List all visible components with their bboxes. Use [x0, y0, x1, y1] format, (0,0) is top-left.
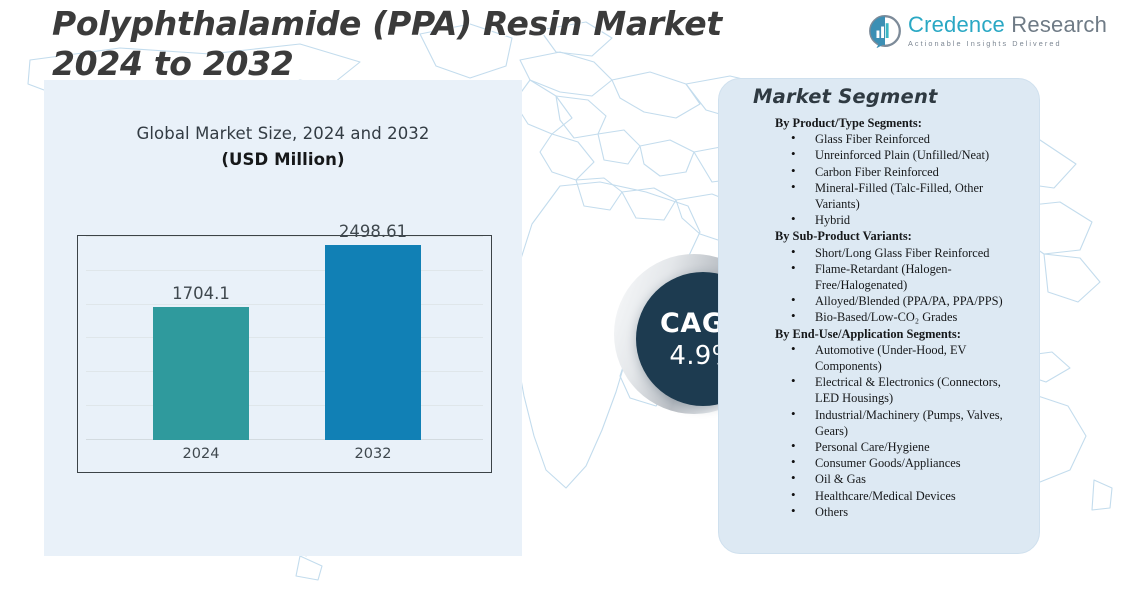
- bar-chart-plot-area: 1704.120242498.612032: [77, 235, 492, 473]
- page-title: Polyphthalamide (PPA) Resin Market 2024 …: [52, 4, 752, 84]
- segment-list-item: Automotive (Under-Hood, EV Components): [777, 342, 1027, 374]
- brand-logo: Credence Research Actionable Insights De…: [868, 10, 1068, 56]
- segment-list-item: Mineral-Filled (Talc-Filled, Other Varia…: [777, 180, 1027, 212]
- segment-list-item: Hybrid: [777, 212, 1027, 228]
- logo-name-rest: Research: [1005, 12, 1107, 37]
- segment-group-heading: By Product/Type Segments:: [775, 115, 1027, 131]
- market-segment-panel: Market Segment By Product/Type Segments:…: [718, 78, 1040, 554]
- segment-list-item: Healthcare/Medical Devices: [777, 488, 1027, 504]
- chart-subtitle: (USD Million): [44, 150, 522, 169]
- segment-list-item: Industrial/Machinery (Pumps, Valves, Gea…: [777, 407, 1027, 439]
- infographic-root: Polyphthalamide (PPA) Resin Market 2024 …: [0, 0, 1135, 590]
- bar-value-label: 1704.1: [172, 284, 230, 303]
- gridline: [86, 405, 483, 406]
- logo-tagline: Actionable Insights Delivered: [908, 39, 1107, 48]
- logo-text: Credence Research Actionable Insights De…: [908, 12, 1107, 48]
- chart-gridlines: [78, 236, 491, 472]
- gridline: [86, 270, 483, 271]
- segment-group-list: Automotive (Under-Hood, EV Components)El…: [777, 342, 1027, 520]
- bar-category-label: 2032: [355, 446, 392, 462]
- segment-list-item: Alloyed/Blended (PPA/PA, PPA/PPS): [777, 293, 1027, 309]
- segment-list-item: Electrical & Electronics (Connectors, LE…: [777, 374, 1027, 406]
- gridline: [86, 371, 483, 372]
- segment-list-item: Oil & Gas: [777, 471, 1027, 487]
- segment-list-item: Consumer Goods/Appliances: [777, 455, 1027, 471]
- market-segment-title: Market Segment: [753, 85, 938, 108]
- segment-list-item: Personal Care/Hygiene: [777, 439, 1027, 455]
- segment-group-heading: By Sub-Product Variants:: [775, 228, 1027, 244]
- bar-rect: [153, 307, 249, 440]
- chart-baseline: [86, 439, 483, 440]
- segment-group-heading: By End-Use/Application Segments:: [775, 326, 1027, 342]
- segment-list-item: Short/Long Glass Fiber Reinforced: [777, 245, 1027, 261]
- segment-group-list: Short/Long Glass Fiber ReinforcedFlame-R…: [777, 245, 1027, 326]
- market-segment-content: By Product/Type Segments:Glass Fiber Rei…: [777, 115, 1027, 520]
- bar-chart-bubble-icon: [868, 14, 902, 48]
- bar-2032: 2498.612032: [325, 245, 421, 440]
- segment-list-item: Others: [777, 504, 1027, 520]
- logo-name-accent: Credence: [908, 12, 1005, 37]
- gridline: [86, 304, 483, 305]
- segment-group-list: Glass Fiber ReinforcedUnreinforced Plain…: [777, 131, 1027, 228]
- segment-list-item: Carbon Fiber Reinforced: [777, 164, 1027, 180]
- logo-company-name: Credence Research: [908, 12, 1107, 38]
- segment-list-item: Flame-Retardant (Halogen-Free/Halogenate…: [777, 261, 1027, 293]
- market-size-chart-panel: Global Market Size, 2024 and 2032 (USD M…: [44, 80, 522, 556]
- chart-title: Global Market Size, 2024 and 2032: [44, 124, 522, 143]
- bar-rect: [325, 245, 421, 440]
- bar-category-label: 2024: [183, 446, 220, 462]
- segment-list-item: Glass Fiber Reinforced: [777, 131, 1027, 147]
- segment-list-item: Bio-Based/Low-CO₂ Grades: [777, 309, 1027, 325]
- bar-value-label: 2498.61: [339, 222, 407, 241]
- segment-list-item: Unreinforced Plain (Unfilled/Neat): [777, 147, 1027, 163]
- gridline: [86, 337, 483, 338]
- gridline: [86, 236, 483, 237]
- bar-2024: 1704.12024: [153, 307, 249, 440]
